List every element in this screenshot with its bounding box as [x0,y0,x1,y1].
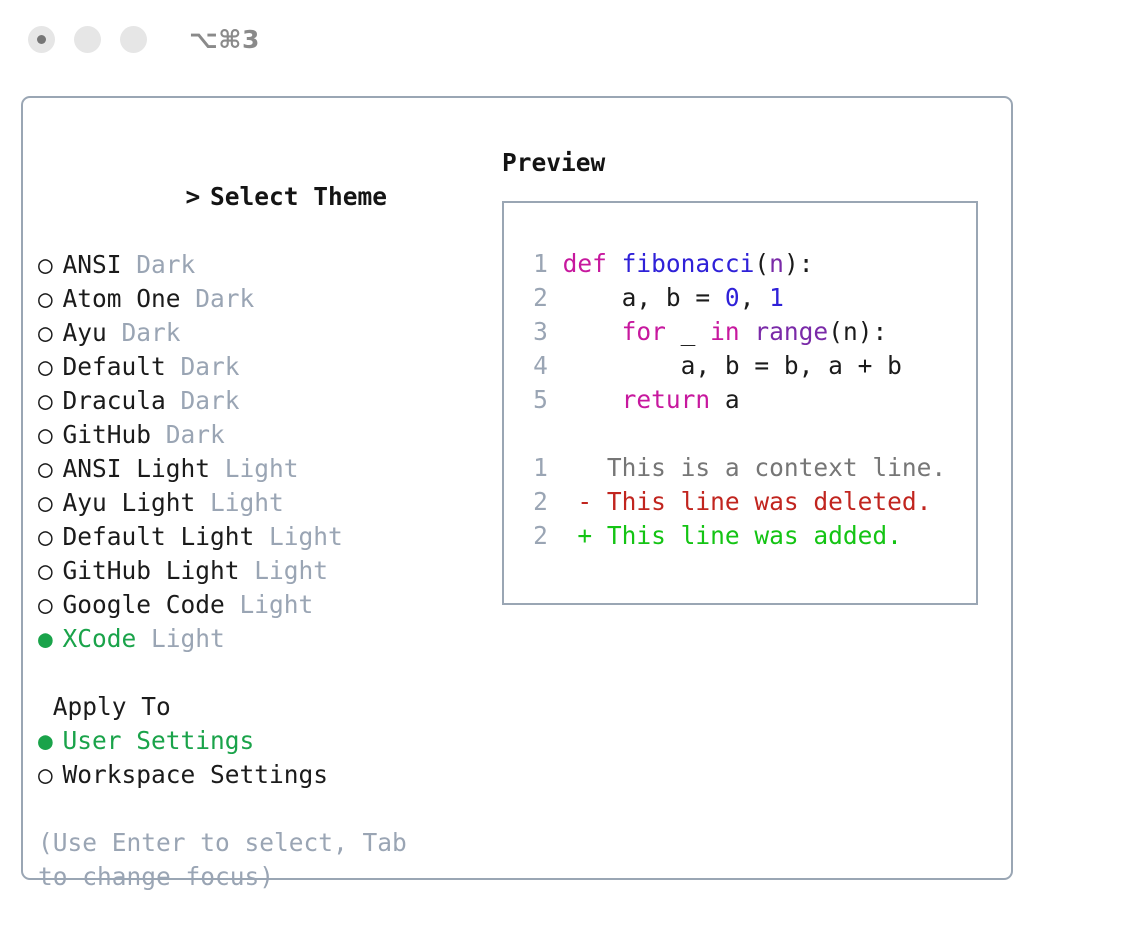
code-line: 2 a, b = 0, 1 [516,281,976,315]
code-line-number: 2 [516,281,548,315]
code-line: 5 return a [516,383,976,417]
theme-name: XCode [63,624,137,653]
code-line: 1 def fibonacci(n): [516,247,976,281]
theme-option-ayu-light[interactable]: ○Ayu Light Light [38,486,488,520]
code-token-kw: in [710,317,740,346]
theme-name: GitHub [63,420,152,449]
code-token-plain [607,249,622,278]
theme-list: ○ANSI Dark○Atom One Dark○Ayu Dark○Defaul… [38,248,488,656]
theme-variant-badge: Light [254,556,328,585]
window-dot-third-icon[interactable] [120,26,147,53]
window-dot-inner [37,35,46,44]
theme-option-xcode[interactable]: ●XCode Light [38,622,488,656]
app-window: ⌥⌘3 >Select Theme ○ANSI Dark○Atom One Da… [0,0,1140,934]
window-dot-active-icon[interactable] [28,26,55,53]
list-spacer [38,656,488,690]
diff-line-text: This line was deleted. [607,487,932,516]
code-token-plain: _ [666,317,710,346]
theme-name-gap [107,318,122,347]
theme-selector-column: >Select Theme ○ANSI Dark○Atom One Dark○A… [38,146,488,894]
code-line-number: 5 [516,383,548,417]
theme-name-gap [254,522,269,551]
code-line-number: 3 [516,315,548,349]
code-token-kw: def [563,249,607,278]
apply-to-options: ●User Settings○Workspace Settings [38,724,488,792]
theme-name: Atom One [63,284,181,313]
code-token-plain: ( [754,249,769,278]
title-bar: ⌥⌘3 [0,0,1140,78]
code-line-number: 1 [516,247,548,281]
theme-name-gap [195,488,210,517]
theme-option-atom-one[interactable]: ○Atom One Dark [38,282,488,316]
radio-unselected-icon: ○ [38,486,63,520]
code-token-plain: ): [858,317,888,346]
theme-name-gap [136,624,151,653]
diff-line-del: 2 - This line was deleted. [516,485,976,519]
theme-variant-badge: Dark [122,318,181,347]
theme-name-gap [166,386,181,415]
radio-unselected-icon: ○ [38,282,63,316]
theme-variant-badge: Light [225,454,299,483]
code-token-builtin: range [754,317,828,346]
code-token-kw: return [622,385,711,414]
theme-name: Default Light [63,522,255,551]
preview-column: Preview 1 def fibonacci(n):2 a, b = 0, 1… [502,146,992,605]
code-token-plain [548,249,563,278]
code-token-kw: for [622,317,666,346]
diff-marker-ctx [577,453,592,482]
diff-gutter-pad [548,521,578,550]
radio-unselected-icon: ○ [38,248,63,282]
window-controls [28,26,147,53]
diff-gutter-pad [548,487,578,516]
diff-line-text: This is a context line. [607,453,946,482]
radio-unselected-icon: ○ [38,520,63,554]
code-line: 3 for _ in range(n): [516,315,976,349]
select-theme-label: Select Theme [210,182,387,211]
theme-name: ANSI [63,250,122,279]
apply-to-option-label: User Settings [63,726,255,755]
code-token-plain: n [843,317,858,346]
apply-to-indent [38,692,53,721]
theme-option-ansi[interactable]: ○ANSI Dark [38,248,488,282]
code-token-plain: a, b = b, a + b [548,351,902,380]
theme-option-ansi-light[interactable]: ○ANSI Light Light [38,452,488,486]
theme-option-github[interactable]: ○GitHub Dark [38,418,488,452]
theme-name: ANSI Light [63,454,211,483]
code-token-num: 1 [769,283,784,312]
theme-name-gap [210,454,225,483]
code-token-param: n [769,249,784,278]
theme-option-default-light[interactable]: ○Default Light Light [38,520,488,554]
window-dot-second-icon[interactable] [74,26,101,53]
theme-option-ayu[interactable]: ○Ayu Dark [38,316,488,350]
theme-variant-badge: Light [151,624,225,653]
code-preview: 1 def fibonacci(n):2 a, b = 0, 13 for _ … [516,247,976,417]
theme-option-dracula[interactable]: ○Dracula Dark [38,384,488,418]
code-token-num: 0 [725,283,740,312]
theme-option-google-code[interactable]: ○Google Code Light [38,588,488,622]
preview-box: 1 def fibonacci(n):2 a, b = 0, 13 for _ … [502,201,978,605]
theme-name: Ayu [63,318,107,347]
theme-variant-badge: Dark [181,386,240,415]
diff-line-text: This line was added. [607,521,902,550]
code-token-plain [548,317,622,346]
diff-marker-add: + [577,521,592,550]
diff-marker-gap [592,453,607,482]
radio-selected-icon: ● [38,622,63,656]
theme-name: Dracula [63,386,166,415]
keyboard-hint-text: (Use Enter to select, Tab to change focu… [38,826,448,894]
theme-option-default[interactable]: ○Default Dark [38,350,488,384]
radio-unselected-icon: ○ [38,588,63,622]
diff-line-number: 2 [516,519,548,553]
theme-variant-badge: Dark [195,284,254,313]
code-token-plain [548,385,622,414]
theme-name-gap [122,250,137,279]
preview-heading: Preview [502,146,992,180]
theme-name: Default [63,352,166,381]
apply-to-label: Apply To [53,692,171,721]
prompt-caret-icon: > [186,180,211,214]
code-token-plain: ( [828,317,843,346]
radio-selected-icon: ● [38,724,63,758]
theme-name: Google Code [63,590,225,619]
diff-preview: 1 This is a context line.2 - This line w… [516,451,976,553]
theme-variant-badge: Light [210,488,284,517]
diff-marker-gap [592,521,607,550]
theme-name-gap [181,284,196,313]
radio-unselected-icon: ○ [38,554,63,588]
apply-to-heading: Apply To [38,690,488,724]
select-theme-heading: >Select Theme [38,146,488,248]
code-token-fn: fibonacci [622,249,755,278]
theme-variant-badge: Light [269,522,343,551]
code-token-plain: a [710,385,740,414]
diff-line-number: 1 [516,451,548,485]
radio-unselected-icon: ○ [38,452,63,486]
code-token-plain: , [740,283,770,312]
keyboard-shortcut-label: ⌥⌘3 [189,25,260,54]
code-line-number: 4 [516,349,548,383]
theme-name: GitHub Light [63,556,240,585]
radio-unselected-icon: ○ [38,384,63,418]
apply-to-option-label: Workspace Settings [63,760,329,789]
preview-gap [516,417,976,451]
theme-variant-badge: Dark [181,352,240,381]
radio-unselected-icon: ○ [38,758,63,792]
theme-name-gap [225,590,240,619]
apply-to-option-workspace-settings[interactable]: ○Workspace Settings [38,758,488,792]
theme-variant-badge: Dark [166,420,225,449]
theme-name-gap [151,420,166,449]
diff-marker-del: - [577,487,592,516]
diff-marker-gap [592,487,607,516]
diff-line-add: 2 + This line was added. [516,519,976,553]
radio-unselected-icon: ○ [38,418,63,452]
code-token-plain: a, b = [548,283,725,312]
theme-name: Ayu Light [63,488,196,517]
code-token-plain [740,317,755,346]
diff-gutter-pad [548,453,578,482]
code-line: 4 a, b = b, a + b [516,349,976,383]
radio-unselected-icon: ○ [38,350,63,384]
main-panel: >Select Theme ○ANSI Dark○Atom One Dark○A… [21,96,1013,880]
theme-variant-badge: Dark [136,250,195,279]
theme-variant-badge: Light [240,590,314,619]
theme-option-github-light[interactable]: ○GitHub Light Light [38,554,488,588]
theme-name-gap [166,352,181,381]
apply-to-option-user-settings[interactable]: ●User Settings [38,724,488,758]
diff-line-ctx: 1 This is a context line. [516,451,976,485]
theme-name-gap [240,556,255,585]
diff-line-number: 2 [516,485,548,519]
radio-unselected-icon: ○ [38,316,63,350]
code-token-plain: ): [784,249,814,278]
